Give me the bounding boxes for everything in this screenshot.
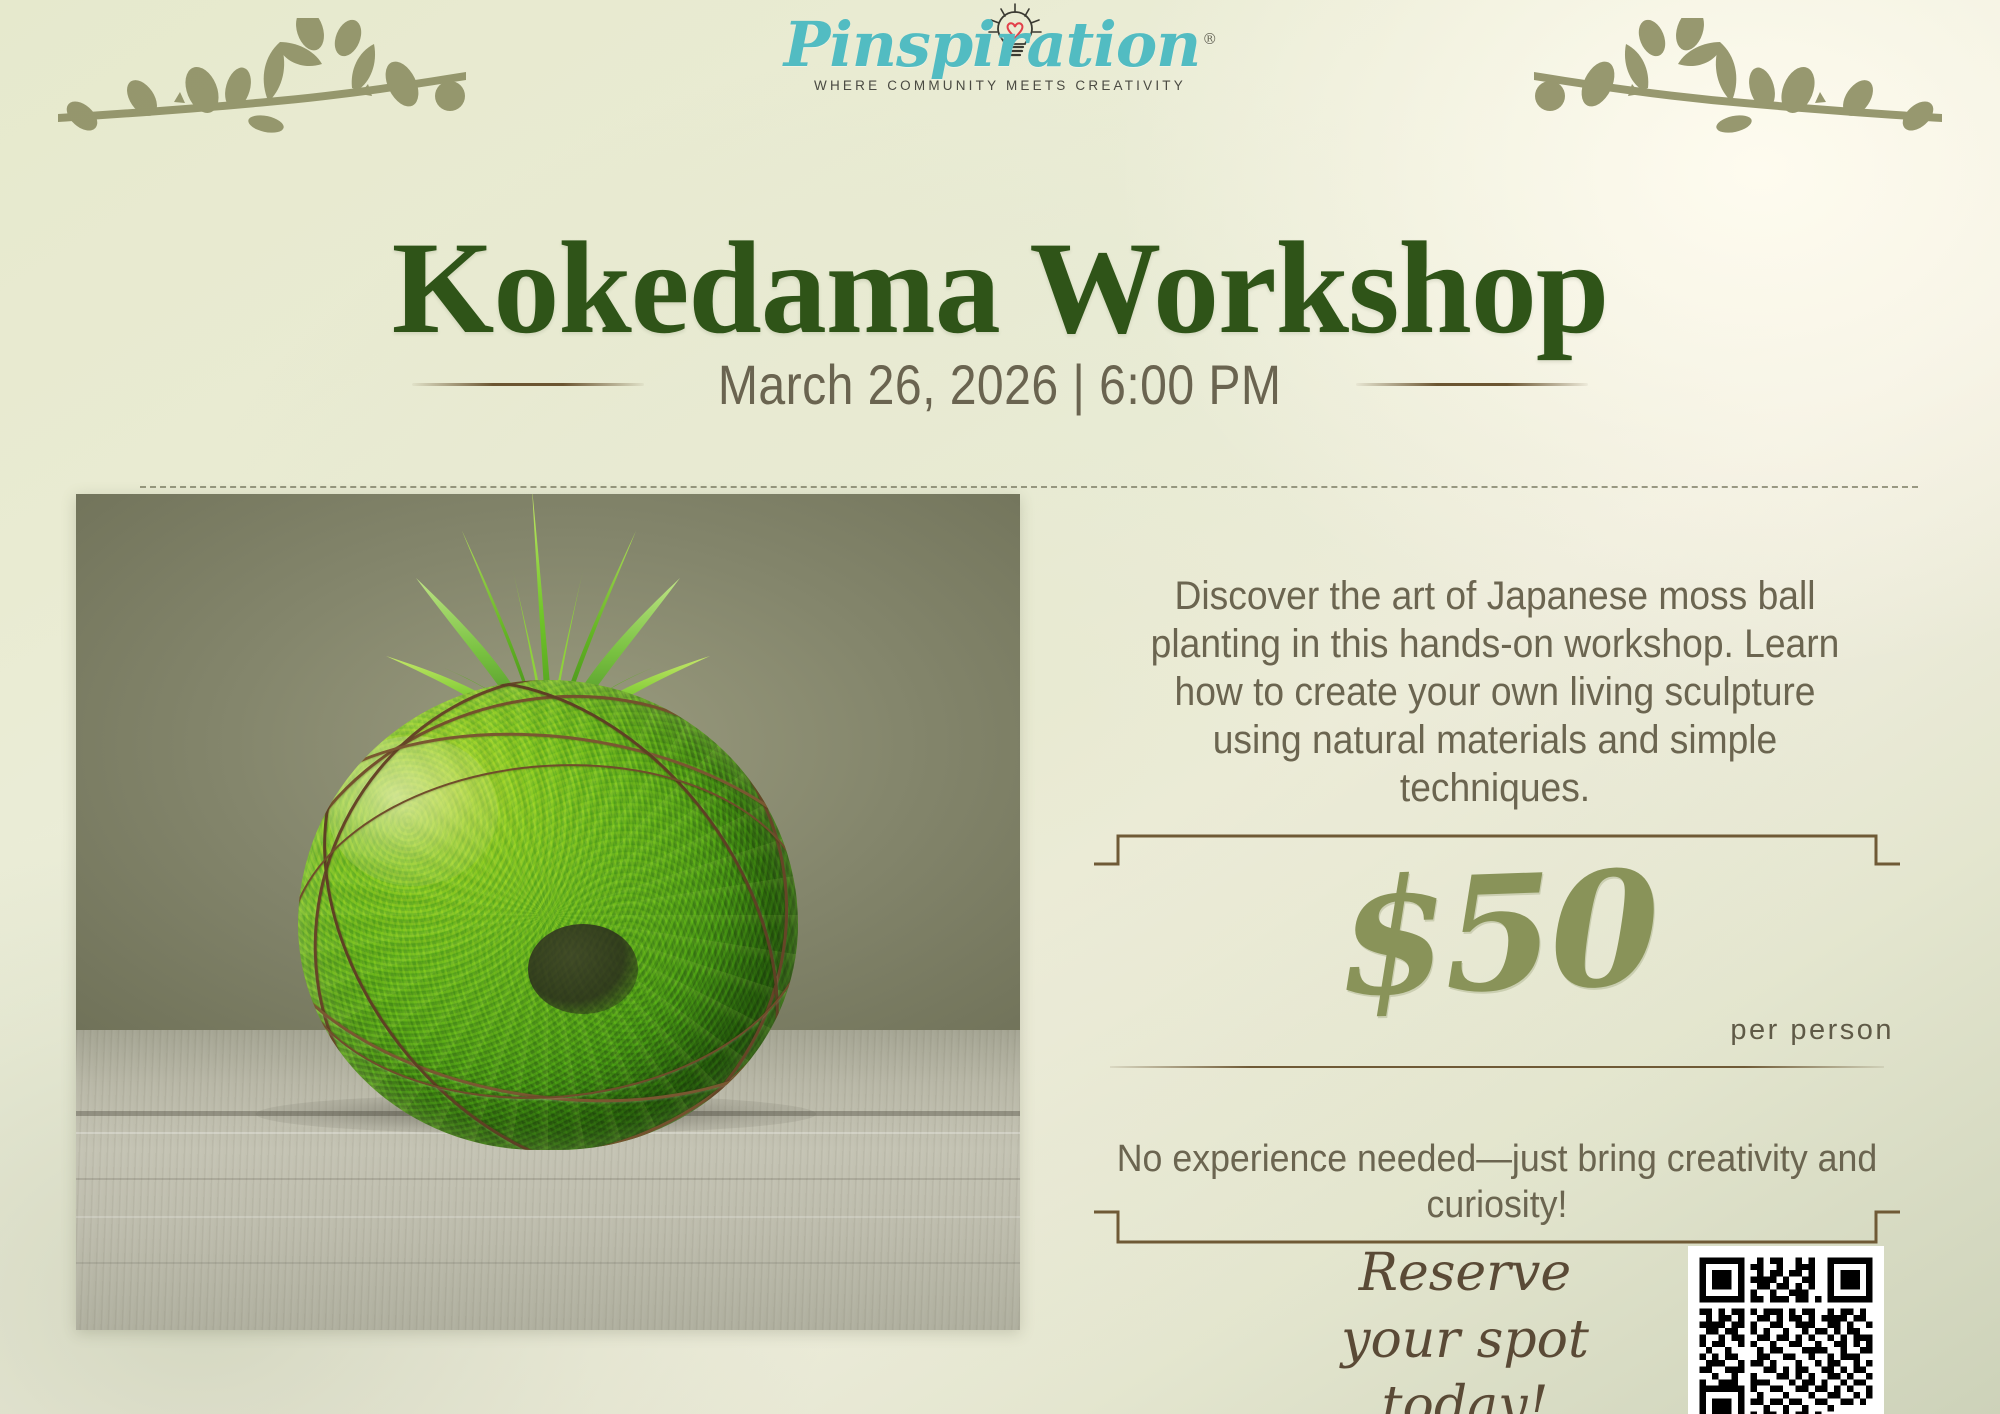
price-block: $50 per person <box>1092 828 1902 1088</box>
registered-mark: ® <box>1202 30 1216 48</box>
workshop-description: Discover the art of Japanese moss ball p… <box>1128 572 1863 812</box>
photo-moss-ball <box>298 680 798 1150</box>
note-block: No experience needed—just bring creativi… <box>1092 1090 1902 1240</box>
price-rule <box>1110 1066 1884 1068</box>
kokedama-moss-ball-photo <box>76 494 1020 1330</box>
photo-plank-seam <box>76 1178 1020 1180</box>
qr-code[interactable]: TQRCG <box>1688 1246 1884 1414</box>
date-rule-left <box>412 383 644 386</box>
brand-logo: Pinspiration® WHERE COMMUNITY MEETS CREA… <box>780 14 1220 93</box>
photo-plank-seam <box>76 1262 1020 1264</box>
price-unit: per person <box>1730 1014 1894 1047</box>
event-datetime: March 26, 2026 | 6:00 PM <box>718 352 1282 417</box>
leaf-branch-icon-left <box>52 18 472 138</box>
price-amount: $50 <box>1089 842 1904 1028</box>
page-title: Kokedama Workshop <box>0 218 2000 358</box>
leaf-branch-icon-right <box>1528 18 1948 138</box>
photo-plank-seam <box>76 1216 1020 1218</box>
flyer-canvas: Pinspiration® WHERE COMMUNITY MEETS CREA… <box>0 0 2000 1414</box>
dashed-divider <box>140 486 1918 488</box>
event-datetime-row: March 26, 2026 | 6:00 PM <box>0 352 2000 417</box>
date-rule-right <box>1356 383 1588 386</box>
reserve-cta[interactable]: Reserve your spot today! <box>1300 1240 1630 1414</box>
brand-wordmark: Pinspiration® <box>784 14 1217 76</box>
brand-wordmark-text: Pinspiration <box>784 8 1201 81</box>
